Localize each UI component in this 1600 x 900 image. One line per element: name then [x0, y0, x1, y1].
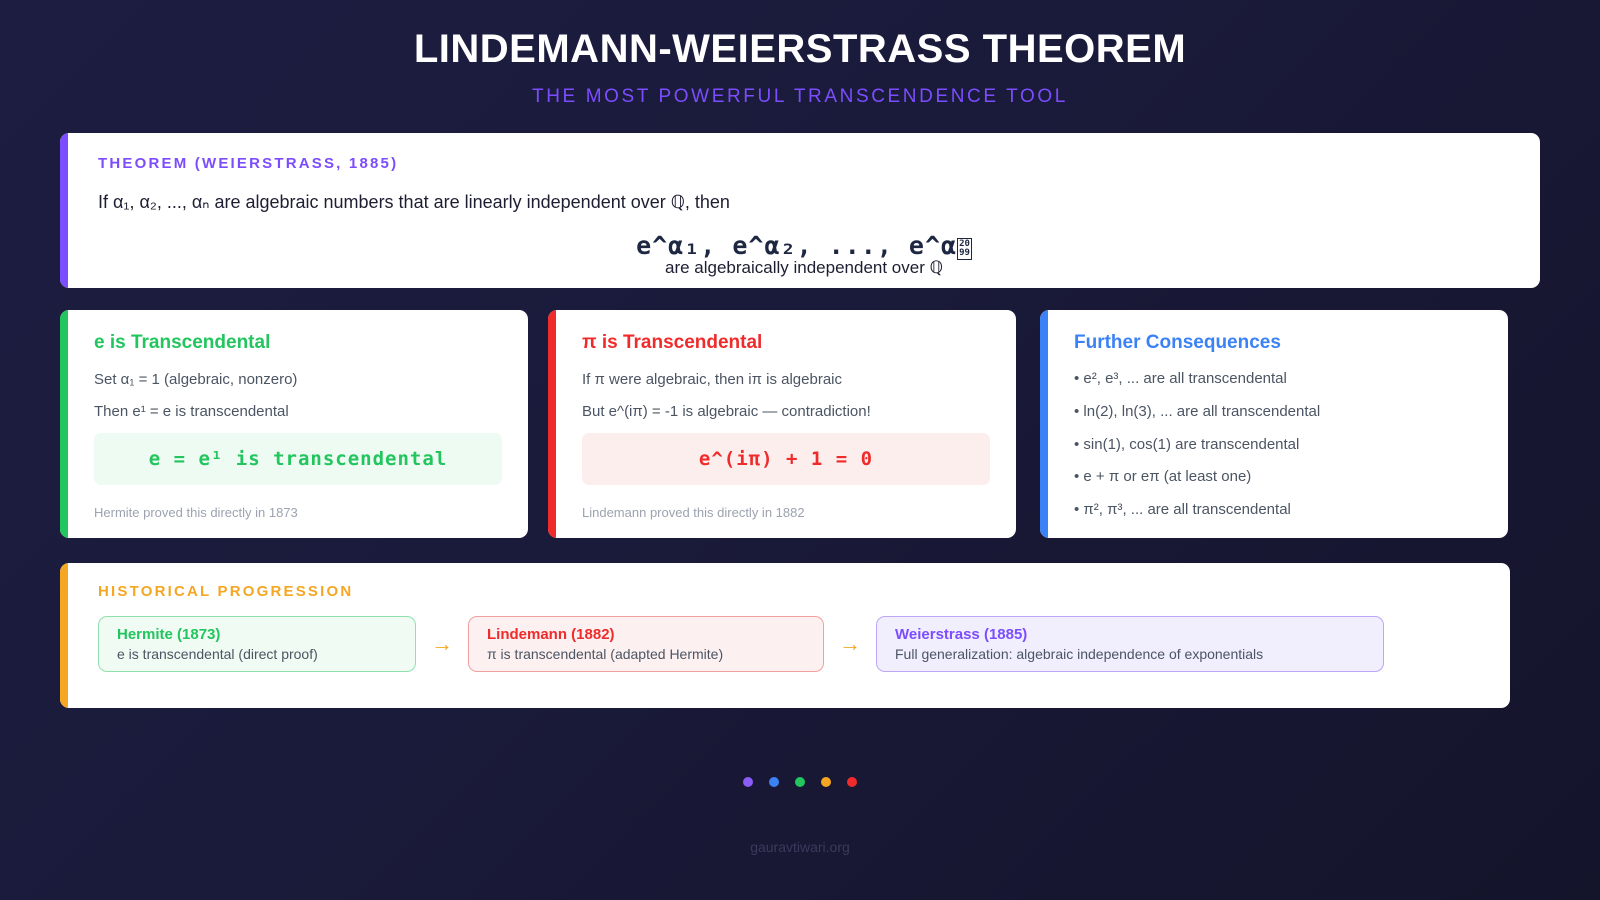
theorem-label: THEOREM (WEIERSTRASS, 1885)	[98, 155, 1510, 172]
timeline-step-hermite-name: Hermite (1873)	[117, 626, 397, 643]
card-pi-line-1: If π were algebraic, then iπ is algebrai…	[582, 370, 990, 390]
timeline-step-lindemann: Lindemann (1882) π is transcendental (ad…	[468, 616, 824, 672]
card-e-line-2: Then e¹ = e is transcendental	[94, 402, 502, 422]
card-pi-line-2: But e^(iπ) = -1 is algebraic — contradic…	[582, 402, 990, 422]
theorem-formula: e^α₁, e^α₂, ..., e^α2099	[98, 231, 1510, 260]
card-pi-code: e^(iπ) + 1 = 0	[699, 448, 873, 470]
card-pi-title: π is Transcendental	[582, 332, 990, 354]
card-e-note: Hermite proved this directly in 1873	[94, 505, 298, 520]
arrow-right-icon: →	[431, 633, 453, 655]
timeline-step-weierstrass: Weierstrass (1885) Full generalization: …	[876, 616, 1384, 672]
missing-glyph-box-icon: 2099	[957, 238, 972, 260]
footer-dot-blue	[769, 777, 779, 787]
theorem-formula-block: e^α₁, e^α₂, ..., e^α2099 are algebraical…	[98, 231, 1510, 278]
card-e-title: e is Transcendental	[94, 332, 502, 354]
card-pi-code-box: e^(iπ) + 1 = 0	[582, 433, 990, 485]
timeline: Hermite (1873) e is transcendental (dire…	[98, 616, 1484, 672]
theorem-formula-text: e^α₁, e^α₂, ..., e^α	[636, 231, 957, 260]
page-subtitle: THE MOST POWERFUL TRANSCENDENCE TOOL	[0, 86, 1600, 108]
list-item: • e², e³, ... are all transcendental	[1074, 370, 1482, 389]
poster-root: LINDEMANN-WEIERSTRASS THEOREM THE MOST P…	[0, 0, 1600, 900]
footer-dot-amber	[821, 777, 831, 787]
list-item: • π², π³, ... are all transcendental	[1074, 501, 1482, 520]
timeline-step-hermite: Hermite (1873) e is transcendental (dire…	[98, 616, 416, 672]
arrow-right-icon: →	[839, 633, 861, 655]
card-e-code: e = e¹ is transcendental	[149, 448, 448, 470]
footer-dots	[0, 777, 1600, 787]
card-e-line-1: Set α₁ = 1 (algebraic, nonzero)	[94, 370, 502, 390]
card-e-code-box: e = e¹ is transcendental	[94, 433, 502, 485]
historical-progression-card: HISTORICAL PROGRESSION Hermite (1873) e …	[60, 563, 1510, 708]
consequences-list: • e², e³, ... are all transcendental • l…	[1074, 370, 1482, 520]
list-item: • ln(2), ln(3), ... are all transcendent…	[1074, 403, 1482, 422]
theorem-accent-bar	[60, 133, 68, 288]
timeline-step-weierstrass-desc: Full generalization: algebraic independe…	[895, 646, 1365, 662]
page-title: LINDEMANN-WEIERSTRASS THEOREM	[0, 26, 1600, 72]
card-fc-title: Further Consequences	[1074, 332, 1482, 354]
card-e-transcendental: e is Transcendental Set α₁ = 1 (algebrai…	[60, 310, 528, 538]
footer-attribution: gauravtiwari.org	[0, 839, 1600, 855]
theorem-card: THEOREM (WEIERSTRASS, 1885) If α₁, α₂, .…	[60, 133, 1540, 288]
timeline-step-lindemann-desc: π is transcendental (adapted Hermite)	[487, 646, 805, 662]
timeline-step-lindemann-name: Lindemann (1882)	[487, 626, 805, 643]
history-label: HISTORICAL PROGRESSION	[98, 583, 1484, 600]
footer-dot-green	[795, 777, 805, 787]
list-item: • sin(1), cos(1) are transcendental	[1074, 436, 1482, 455]
card-pi-note: Lindemann proved this directly in 1882	[582, 505, 805, 520]
history-accent-bar	[60, 563, 68, 708]
theorem-statement: If α₁, α₂, ..., αₙ are algebraic numbers…	[98, 190, 1510, 215]
card-pi-transcendental: π is Transcendental If π were algebraic,…	[548, 310, 1016, 538]
footer-dot-purple	[743, 777, 753, 787]
footer-dot-red	[847, 777, 857, 787]
card-further-consequences: Further Consequences • e², e³, ... are a…	[1040, 310, 1508, 538]
timeline-step-hermite-desc: e is transcendental (direct proof)	[117, 646, 397, 662]
theorem-formula-caption: are algebraically independent over ℚ	[98, 258, 1510, 278]
list-item: • e + π or eπ (at least one)	[1074, 468, 1482, 487]
timeline-step-weierstrass-name: Weierstrass (1885)	[895, 626, 1365, 643]
poster-header: LINDEMANN-WEIERSTRASS THEOREM THE MOST P…	[0, 0, 1600, 108]
missing-glyph-bottom: 99	[959, 249, 970, 258]
